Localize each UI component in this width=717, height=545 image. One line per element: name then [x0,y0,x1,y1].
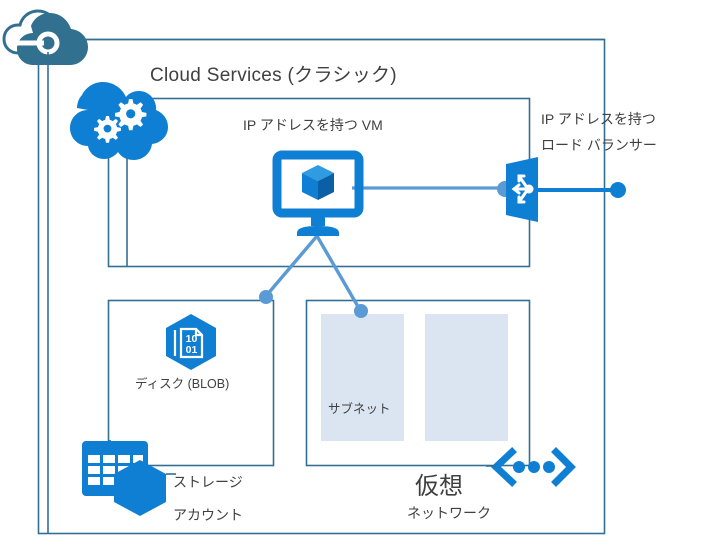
load-balancer-icon [506,157,538,222]
diagram-canvas: 10 01 [0,0,717,545]
storage-account-label-line2: アカウント [173,507,243,525]
load-balancer-label-line1: IP アドレスを持つ [541,111,656,129]
virtual-network-chevron-icon [486,452,571,482]
disk-label: ディスク (BLOB) [135,377,229,393]
disk-blob-hexagon-icon: 10 01 [166,314,216,370]
subnet-label: サブネット [328,402,391,418]
virtual-network-label-line2: ネットワーク [407,505,491,523]
storage-account-table-icon [82,440,176,516]
subnet-right [425,314,508,441]
connector-vm-to-subnet [317,236,360,310]
subnet-left [321,314,404,441]
page-title: Cloud Services (クラシック) [150,64,397,88]
cloud-services-gears-icon [70,82,168,266]
endpoint-dot-icon [610,182,626,198]
connector-dot-subnet [354,304,368,318]
vm-label: IP アドレスを持つ VM [243,117,383,135]
connectors-group [259,181,626,318]
cube-glyph [302,165,334,200]
connector-dot-disk [259,290,273,304]
virtual-machine-monitor-icon [277,155,359,236]
storage-account-label-line1: ストレージ [173,474,243,492]
svg-text:01: 01 [186,344,198,356]
load-balancer-label-line2: ロード バランサー [541,137,657,155]
virtual-network-label-line1: 仮想 [415,472,463,502]
